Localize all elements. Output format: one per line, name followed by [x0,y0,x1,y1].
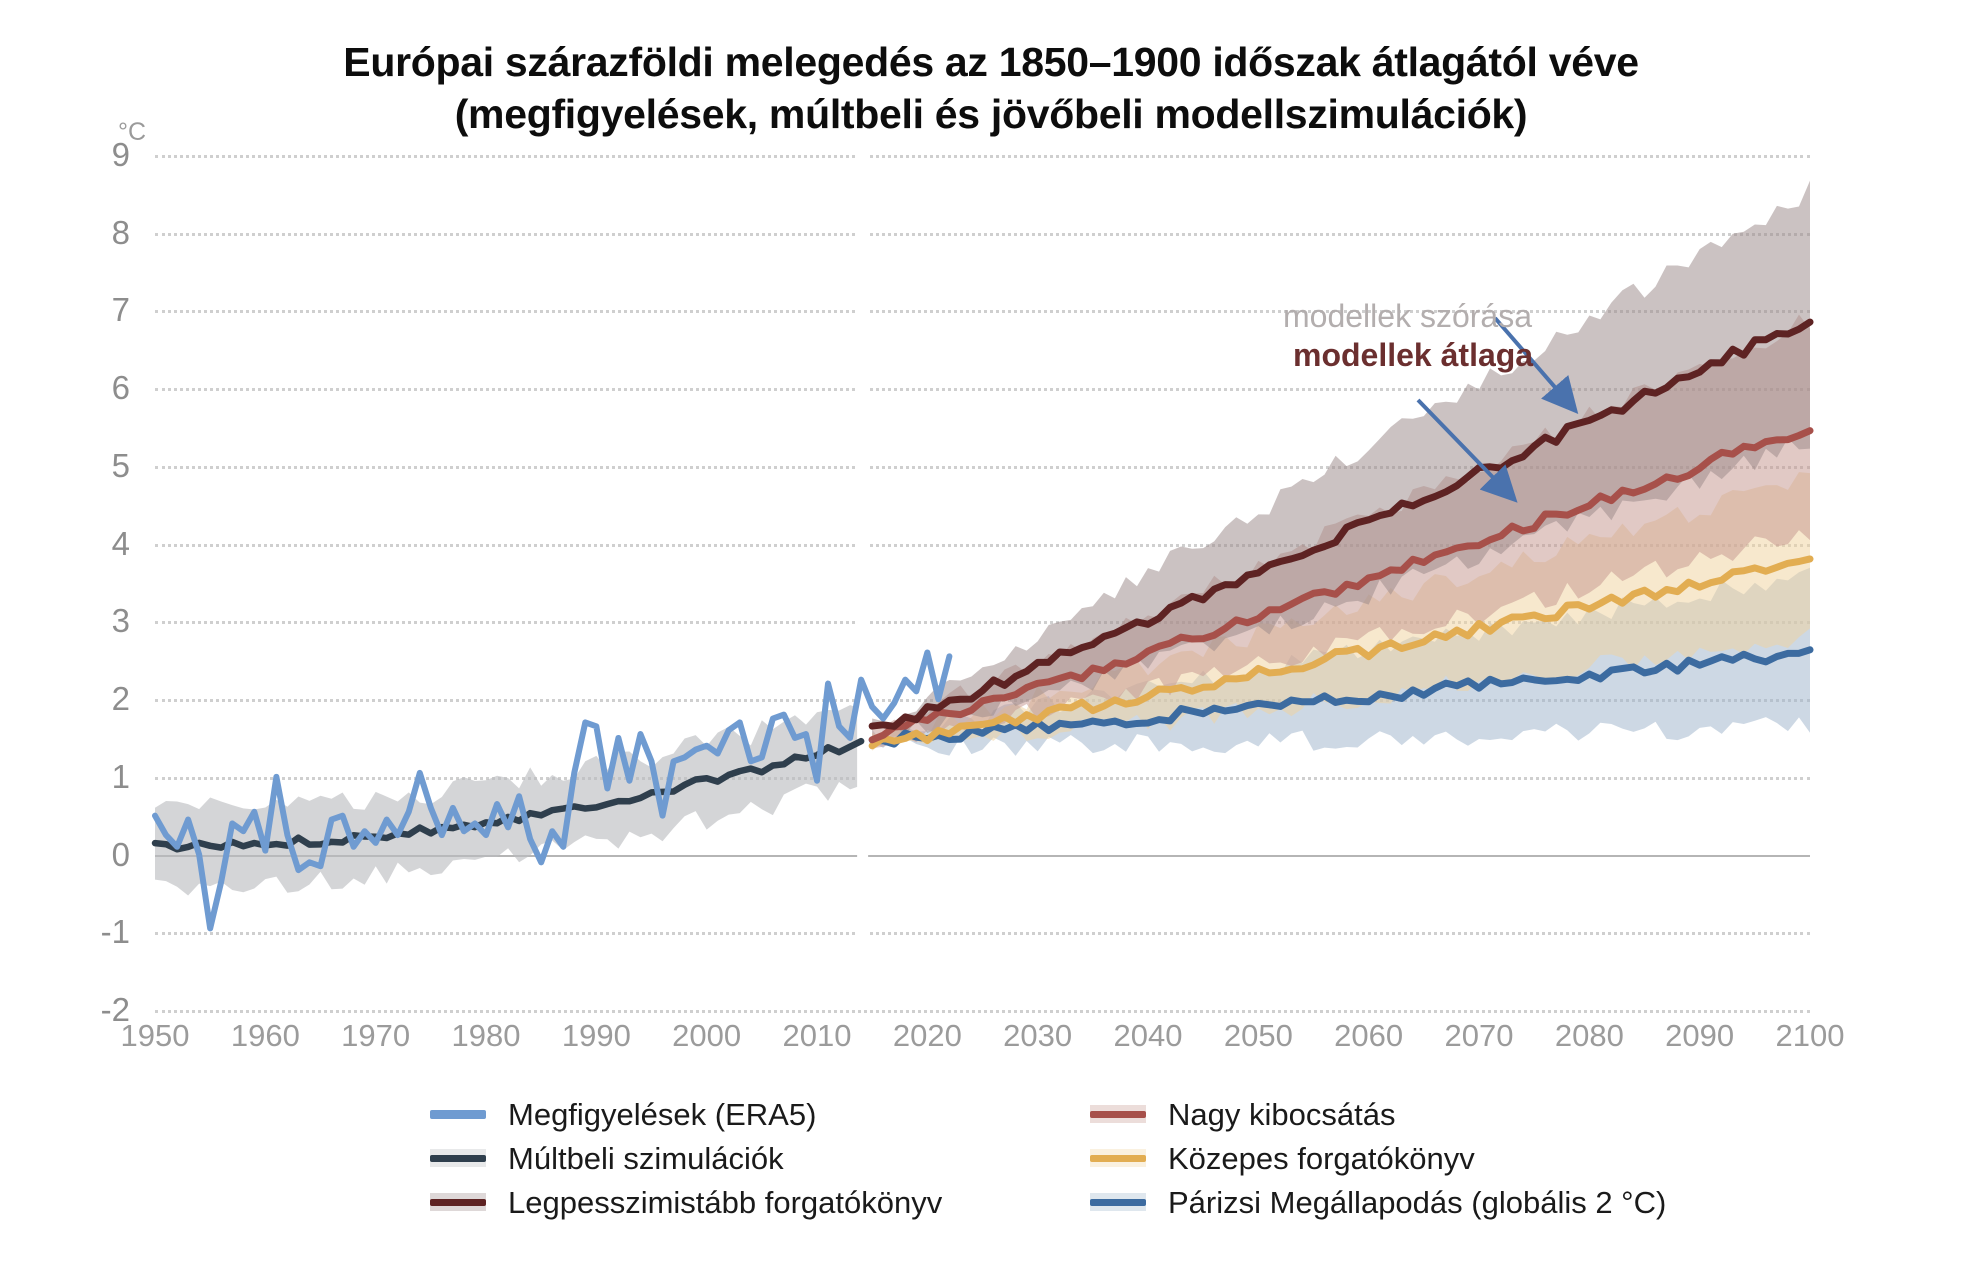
legend-swatch-line-icon [430,1110,486,1119]
legend-swatch-band-icon [430,1190,486,1214]
legend-item[interactable]: Legpesszimistább forgatókönyv [430,1180,990,1224]
legend-swatch-band-icon [1090,1102,1146,1126]
annotation-model-mean: modellek átlaga [1293,337,1533,374]
legend-swatch-band-icon [1090,1146,1146,1170]
chart-legend: Megfigyelések (ERA5)Múltbeli szimulációk… [430,1092,1790,1224]
legend-item[interactable]: Közepes forgatókönyv [1090,1136,1730,1180]
legend-item-label: Legpesszimistább forgatókönyv [508,1187,942,1218]
climate-warming-chart-figure: Európai szárazföldi melegedés az 1850–19… [0,0,1982,1284]
legend-item-label: Párizsi Megállapodás (globális 2 °C) [1168,1187,1666,1218]
legend-swatch-band-icon [430,1146,486,1170]
historical-future-separator [857,155,868,1010]
legend-item-label: Múltbeli szimulációk [508,1143,784,1174]
legend-line-stroke [1090,1155,1146,1162]
legend-line-stroke [1090,1199,1146,1206]
historical-band [155,705,861,895]
legend-item[interactable]: Párizsi Megállapodás (globális 2 °C) [1090,1180,1730,1224]
legend-column-right: Nagy kibocsátásKözepes forgatókönyvPáriz… [1090,1092,1730,1224]
legend-item[interactable]: Megfigyelések (ERA5) [430,1092,990,1136]
legend-column-left: Megfigyelések (ERA5)Múltbeli szimulációk… [430,1092,990,1224]
legend-line-stroke [430,1155,486,1162]
legend-item-label: Megfigyelések (ERA5) [508,1099,816,1130]
legend-item[interactable]: Nagy kibocsátás [1090,1092,1730,1136]
uncertainty-bands [155,181,1810,896]
legend-line-stroke [1090,1111,1146,1118]
legend-item-label: Közepes forgatókönyv [1168,1143,1475,1174]
legend-item-label: Nagy kibocsátás [1168,1099,1395,1130]
annotation-model-spread: modellek szórása [1283,298,1532,335]
legend-swatch-band-icon [1090,1190,1146,1214]
legend-item[interactable]: Múltbeli szimulációk [430,1136,990,1180]
legend-line-stroke [430,1199,486,1206]
